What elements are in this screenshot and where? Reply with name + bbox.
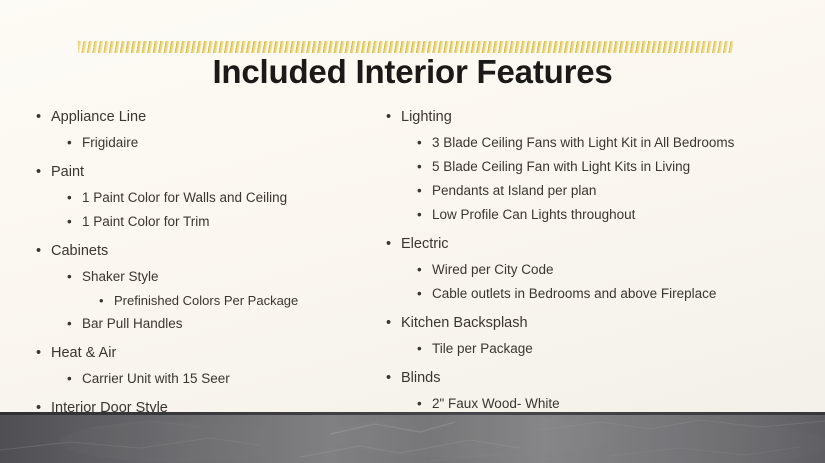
bullet-dot-icon: •: [67, 210, 72, 234]
bullet-dot-icon: •: [36, 238, 41, 265]
bottom-stone-band: [0, 412, 825, 463]
bullet-item-label: 1 Paint Color for Trim: [82, 210, 210, 234]
decorative-dashed-rule: [78, 41, 733, 53]
bullet-item-l2: •3 Blade Ceiling Fans with Light Kit in …: [380, 131, 780, 155]
bullet-item-l2: •Pendants at Island per plan: [380, 179, 780, 203]
bullet-item-label: Frigidaire: [82, 131, 138, 155]
bullet-item-label: Kitchen Backsplash: [401, 310, 528, 337]
bullet-item-l2: •Wired per City Code: [380, 258, 780, 282]
bullet-item-l2: •Frigidaire: [30, 131, 380, 155]
bullet-item-label: Low Profile Can Lights throughout: [432, 203, 635, 227]
bullet-dot-icon: •: [417, 203, 422, 227]
bullet-dot-icon: •: [386, 104, 391, 131]
bullet-item-label: Heat & Air: [51, 340, 116, 367]
bullet-item-label: Cabinets: [51, 238, 108, 265]
bullet-item-label: Wired per City Code: [432, 258, 554, 282]
bullet-dot-icon: •: [67, 265, 72, 289]
bullet-item-label: Shaker Style: [82, 265, 159, 289]
bullet-item-label: Cable outlets in Bedrooms and above Fire…: [432, 282, 716, 306]
slide: Included Interior Features •Appliance Li…: [0, 0, 825, 463]
bullet-item-l2: •1 Paint Color for Walls and Ceiling: [30, 186, 380, 210]
stone-texture-veins: [0, 412, 825, 463]
bullet-dot-icon: •: [67, 312, 72, 336]
bullet-dot-icon: •: [417, 282, 422, 306]
bullet-item-label: Tile per Package: [432, 337, 533, 361]
bullet-item-label: Paint: [51, 159, 84, 186]
bullet-item-label: 3 Blade Ceiling Fans with Light Kit in A…: [432, 131, 734, 155]
bullet-dot-icon: •: [417, 131, 422, 155]
bullet-dot-icon: •: [417, 155, 422, 179]
bullet-item-l2: •Carrier Unit with 15 Seer: [30, 367, 380, 391]
bullet-item-label: Blinds: [401, 365, 441, 392]
page-title: Included Interior Features: [0, 53, 825, 91]
bullet-dot-icon: •: [36, 340, 41, 367]
bullet-item-label: 1 Paint Color for Walls and Ceiling: [82, 186, 287, 210]
bullet-item-l1: •Electric: [380, 231, 780, 258]
bullet-dot-icon: •: [417, 179, 422, 203]
bullet-item-l2: •Low Profile Can Lights throughout: [380, 203, 780, 227]
bullet-item-l1: •Kitchen Backsplash: [380, 310, 780, 337]
bullet-item-l2: •Bar Pull Handles: [30, 312, 380, 336]
bullet-dot-icon: •: [36, 104, 41, 131]
bullet-item-l2: •1 Paint Color for Trim: [30, 210, 380, 234]
bullet-item-l2: •5 Blade Ceiling Fan with Light Kits in …: [380, 155, 780, 179]
bullet-item-label: Electric: [401, 231, 449, 258]
bullet-item-l1: •Paint: [30, 159, 380, 186]
content-columns: •Appliance Line•Frigidaire•Paint•1 Paint…: [0, 104, 825, 404]
bullet-item-label: Bar Pull Handles: [82, 312, 183, 336]
bullet-dot-icon: •: [99, 289, 104, 312]
bullet-dot-icon: •: [417, 337, 422, 361]
bullet-item-label: Appliance Line: [51, 104, 146, 131]
bullet-item-label: 5 Blade Ceiling Fan with Light Kits in L…: [432, 155, 690, 179]
bullet-dot-icon: •: [417, 258, 422, 282]
bullet-item-l1: •Cabinets: [30, 238, 380, 265]
bullet-item-label: Pendants at Island per plan: [432, 179, 596, 203]
bullet-dot-icon: •: [67, 367, 72, 391]
bullet-dot-icon: •: [36, 159, 41, 186]
bullet-item-label: Prefinished Colors Per Package: [114, 289, 298, 312]
right-bullet-list: •Lighting•3 Blade Ceiling Fans with Ligh…: [380, 104, 780, 416]
bullet-dot-icon: •: [67, 186, 72, 210]
bullet-item-label: Carrier Unit with 15 Seer: [82, 367, 230, 391]
bullet-item-l1: •Appliance Line: [30, 104, 380, 131]
bullet-item-l2: •Cable outlets in Bedrooms and above Fir…: [380, 282, 780, 306]
bullet-dot-icon: •: [386, 365, 391, 392]
bullet-item-l3: •Prefinished Colors Per Package: [30, 289, 380, 312]
bullet-item-l1: •Blinds: [380, 365, 780, 392]
bullet-item-l2: •Shaker Style: [30, 265, 380, 289]
bullet-item-l1: •Lighting: [380, 104, 780, 131]
bullet-item-label: Lighting: [401, 104, 452, 131]
left-bullet-list: •Appliance Line•Frigidaire•Paint•1 Paint…: [30, 104, 380, 463]
bullet-dot-icon: •: [386, 231, 391, 258]
bullet-dot-icon: •: [67, 131, 72, 155]
bullet-item-l1: •Heat & Air: [30, 340, 380, 367]
bullet-dot-icon: •: [386, 310, 391, 337]
bullet-item-l2: •Tile per Package: [380, 337, 780, 361]
